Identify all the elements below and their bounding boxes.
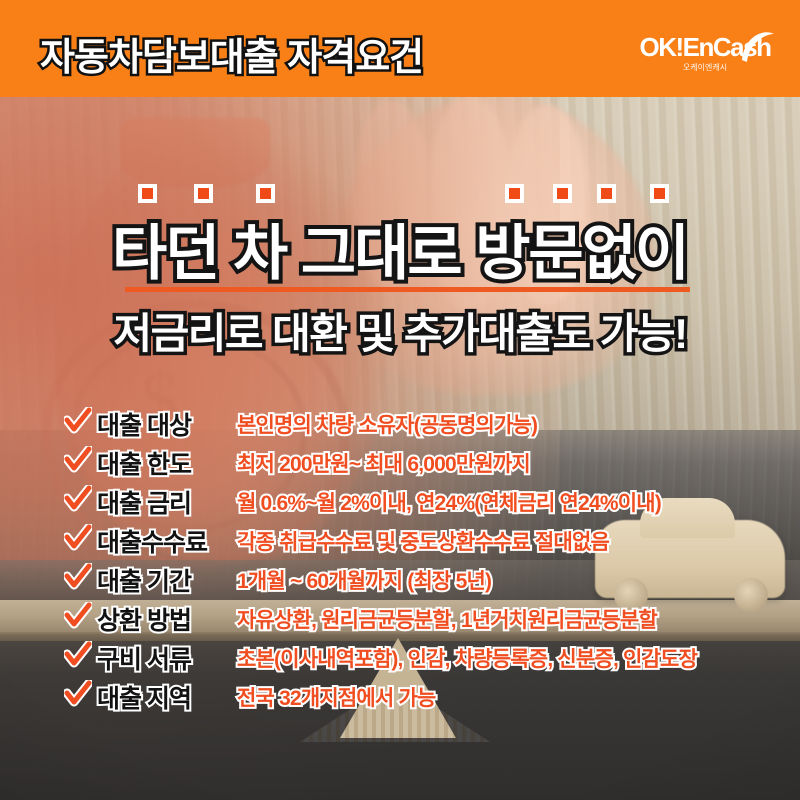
spec-value: 자유상환, 원리금균등분할, 1년거치원리금균등분할 [237,604,657,634]
spec-label: 대출 금리 [97,484,191,520]
spec-list: 대출 대상 본인명의 차량 소유자(공동명의가능) 대출 한도 최저 200만원… [0,403,800,715]
spec-value: 최저 200만원~ 최대 6,000만원까지 [237,448,530,478]
check-mark-icon [64,485,92,513]
decorative-square-dot [553,184,572,203]
spec-row: 대출 한도 최저 200만원~ 최대 6,000만원까지 [0,442,800,481]
decorative-square-dot [597,184,616,203]
spec-value: 각종 취급수수료 및 중도상환수수료 절대없음 [237,526,609,556]
spec-value: 1개월 ~ 60개월까지 (최장 5년) [237,565,491,595]
spec-row: 구비 서류 초본(이사내역포함), 인감, 차량등록증, 신분증, 인감도장 [0,637,800,676]
spec-row: 대출 대상 본인명의 차량 소유자(공동명의가능) [0,403,800,442]
spec-row: 대출 지역 전국 32개지점에서 가능 [0,676,800,715]
spec-label: 대출 기간 [97,562,191,598]
decorative-square-dot [650,184,669,203]
headline-underline [125,287,690,292]
spec-label: 상환 방법 [97,601,191,637]
promo-poster: $ 자동차담보대출 자격요건 OK!EnCash 오케이엔캐시 타던 차 그대로… [0,0,800,800]
spec-label: 대출수수료 [97,523,207,559]
spec-label: 대출 대상 [97,406,191,442]
headline: 타던 차 그대로 방문없이 [0,205,800,292]
decorative-square-dot [194,184,213,203]
brand-logo-text: OK!EnCash [630,32,780,63]
decorative-square-dot [505,184,524,203]
check-mark-icon [64,641,92,669]
brand-logo-subtext: 오케이엔캐시 [630,62,780,73]
check-mark-icon [64,602,92,630]
check-mark-icon [64,524,92,552]
spec-label: 구비 서류 [97,640,191,676]
spec-value: 본인명의 차량 소유자(공동명의가능) [237,409,537,439]
check-mark-icon [64,680,92,708]
subheadline: 저금리로 대환 및 추가대출도 가능! [0,300,800,361]
check-mark-icon [64,563,92,591]
page-title: 자동차담보대출 자격요건 [40,26,423,81]
spec-row: 대출 금리 월 0.6%~월 2%이내, 연24%(연체금리 연24%이내) [0,481,800,520]
spec-row: 대출 기간 1개월 ~ 60개월까지 (최장 5년) [0,559,800,598]
spec-value: 월 0.6%~월 2%이내, 연24%(연체금리 연24%이내) [237,487,661,517]
spec-label: 대출 한도 [97,445,191,481]
check-mark-icon [64,407,92,435]
header-bar: 자동차담보대출 자격요건 OK!EnCash 오케이엔캐시 [0,0,800,97]
spec-value: 초본(이사내역포함), 인감, 차량등록증, 신분증, 인감도장 [237,643,697,673]
spec-row: 상환 방법 자유상환, 원리금균등분할, 1년거치원리금균등분할 [0,598,800,637]
decorative-square-dot [138,184,157,203]
spec-label: 대출 지역 [97,679,191,715]
check-mark-icon [64,446,92,474]
spec-value: 전국 32개지점에서 가능 [237,682,436,712]
spec-row: 대출수수료 각종 취급수수료 및 중도상환수수료 절대없음 [0,520,800,559]
brand-logo[interactable]: OK!EnCash 오케이엔캐시 [630,28,780,84]
decorative-square-dot [256,184,275,203]
